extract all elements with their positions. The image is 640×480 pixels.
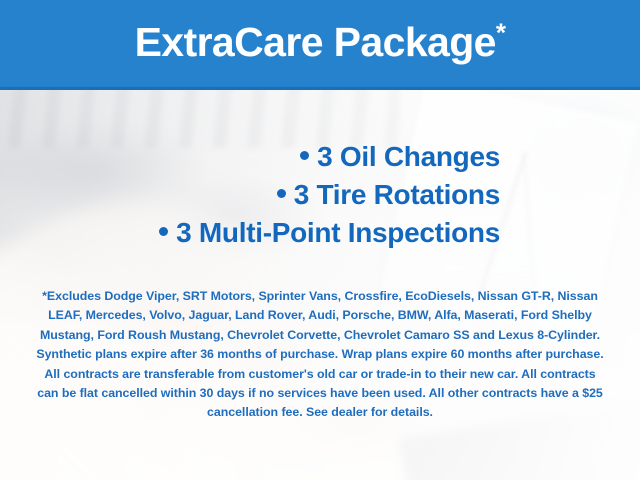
benefit-item-oil-changes: 3 Oil Changes: [0, 138, 500, 176]
benefit-label: 3 Tire Rotations: [294, 179, 500, 210]
benefit-label: 3 Oil Changes: [317, 141, 500, 172]
benefit-item-multi-point-inspections: 3 Multi-Point Inspections: [0, 214, 500, 252]
header-banner: ExtraCare Package*: [0, 0, 640, 90]
bullet-point-icon: [159, 227, 168, 236]
benefit-label: 3 Multi-Point Inspections: [176, 217, 500, 248]
benefits-list: 3 Oil Changes 3 Tire Rotations 3 Multi-P…: [0, 138, 640, 252]
page-title-asterisk: *: [496, 17, 506, 47]
benefit-item-tire-rotations: 3 Tire Rotations: [0, 176, 500, 214]
extracare-package-ad: ExtraCare Package* 3 Oil Changes 3 Tire …: [0, 0, 640, 480]
disclaimer-text: *Excludes Dodge Viper, SRT Motors, Sprin…: [34, 287, 606, 423]
bullet-point-icon: [277, 189, 286, 198]
page-title-text: ExtraCare Package: [135, 19, 496, 65]
bullet-point-icon: [300, 151, 309, 160]
page-title: ExtraCare Package*: [135, 22, 506, 66]
